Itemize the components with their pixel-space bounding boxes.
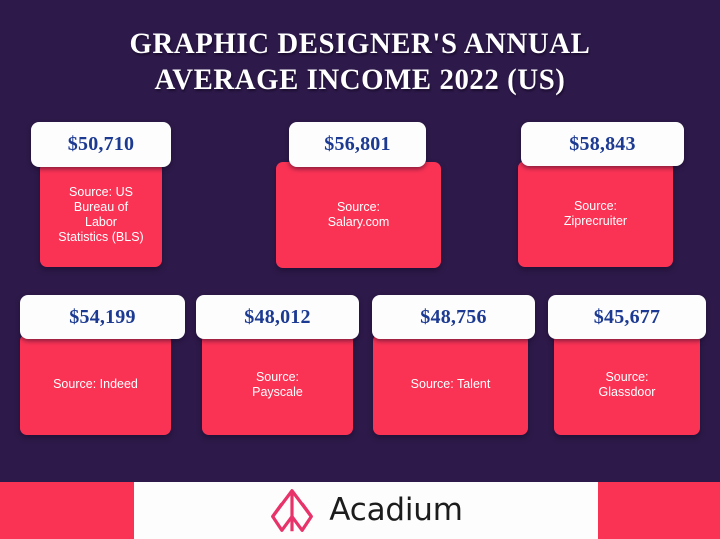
card-header: $54,199	[20, 295, 185, 339]
card-amount: $56,801	[324, 133, 390, 156]
card-header: $56,801	[289, 122, 426, 167]
infographic-poster: GRAPHIC DESIGNER'S ANNUAL AVERAGE INCOME…	[0, 0, 720, 539]
card-source: Source: US Bureau of Labor Statistics (B…	[52, 185, 149, 245]
card-body: Source: Payscale	[202, 334, 353, 435]
card-header: $48,012	[196, 295, 359, 339]
brand-name: Acadium	[329, 495, 462, 526]
card-body: Source: Salary.com	[276, 162, 441, 268]
card-body: Source: US Bureau of Labor Statistics (B…	[40, 162, 162, 267]
card-source: Source: Glassdoor	[593, 370, 662, 400]
title-line-1: GRAPHIC DESIGNER'S ANNUAL	[14, 26, 705, 62]
card-amount: $54,199	[69, 306, 135, 329]
card-source: Source: Payscale	[246, 370, 309, 400]
card-header: $48,756	[372, 295, 535, 339]
card-row-1: $50,710 Source: US Bureau of Labor Stati…	[0, 122, 720, 272]
card-body: Source: Talent	[373, 334, 528, 435]
card-source: Source: Talent	[405, 377, 497, 392]
card-amount: $58,843	[569, 133, 635, 156]
card-header: $45,677	[548, 295, 706, 339]
card-header: $50,710	[31, 122, 171, 167]
card-body: Source: Ziprecruiter	[518, 161, 673, 267]
card-amount: $50,710	[68, 133, 134, 156]
card-amount: $48,012	[244, 306, 310, 329]
card-body: Source: Glassdoor	[554, 334, 700, 435]
footer-bar: Acadium	[0, 482, 720, 539]
card-row-2: $54,199 Source: Indeed $48,012 Source: P…	[0, 295, 720, 440]
card-amount: $48,756	[420, 306, 486, 329]
acadium-diamond-icon	[269, 488, 315, 534]
card-header: $58,843	[521, 122, 684, 166]
card-body: Source: Indeed	[20, 334, 171, 435]
page-title: GRAPHIC DESIGNER'S ANNUAL AVERAGE INCOME…	[0, 26, 720, 98]
title-line-2: AVERAGE INCOME 2022 (US)	[14, 62, 705, 98]
brand-panel: Acadium	[134, 482, 598, 539]
card-source: Source: Indeed	[47, 377, 144, 392]
card-amount: $45,677	[594, 306, 660, 329]
card-source: Source: Ziprecruiter	[558, 199, 633, 229]
card-source: Source: Salary.com	[322, 200, 396, 230]
